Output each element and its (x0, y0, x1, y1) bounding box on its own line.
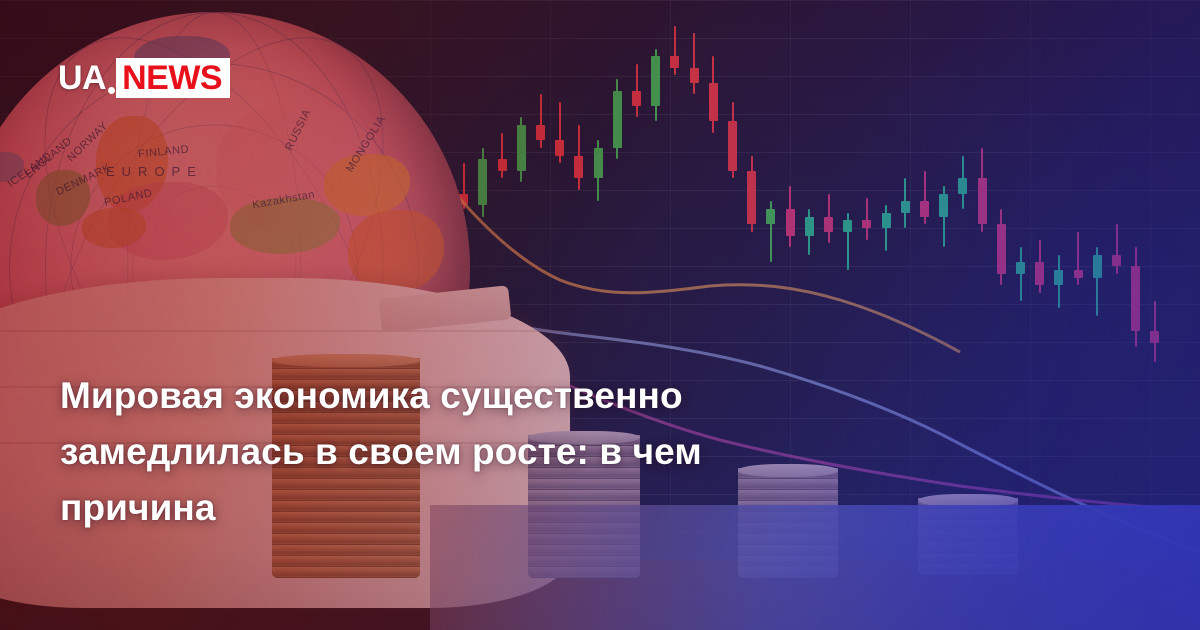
brand-logo[interactable]: UA NEWS (58, 58, 230, 98)
dot-icon (108, 87, 115, 94)
brand-logo-prefix: UA (58, 58, 108, 98)
headline: Мировая экономика существенно замедлилас… (60, 368, 880, 537)
brand-logo-suffix: NEWS (116, 58, 230, 98)
headline-line-2: замедлилась в своем росте: в чем (60, 424, 880, 480)
headline-line-3: причина (60, 480, 880, 536)
news-share-card: ICELAND ENGLAND NORWAY DENMARK FINLAND P… (0, 0, 1200, 630)
headline-line-1: Мировая экономика существенно (60, 368, 880, 424)
